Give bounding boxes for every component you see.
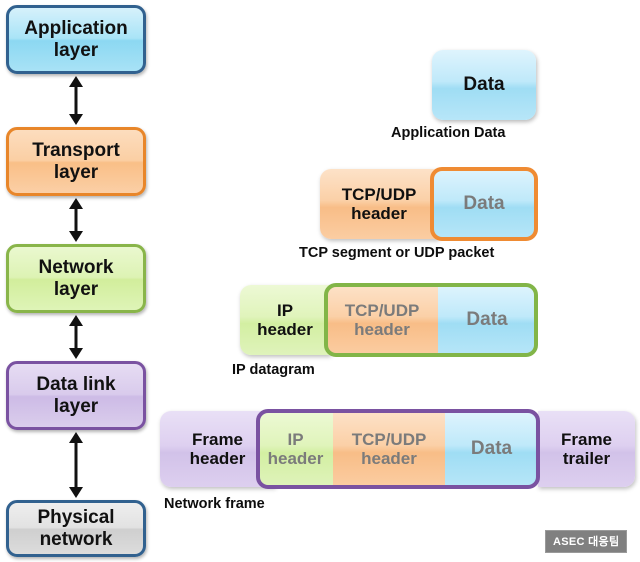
pdu-ip-datagram-tcp-udp-header-line2: header	[345, 320, 420, 339]
layer-label-transport-line1: Transport	[28, 140, 124, 161]
pdu-ip-datagram-segment-data-label: Data	[466, 309, 507, 331]
layer-box-application: Application layer	[6, 5, 146, 74]
arrow-transport-network	[64, 198, 88, 242]
pdu-ip-datagram-segment-tcp-udp-header: TCP/UDP header	[326, 285, 438, 355]
layer-label-network: Network layer	[31, 257, 122, 300]
pdu-network-frame-segment-data-label: Data	[471, 438, 512, 460]
pdu-caption-tcp-segment: TCP segment or UDP packet	[299, 245, 494, 261]
pdu-tcp-segment-tcp-udp-header-line1: TCP/UDP	[342, 185, 417, 204]
layer-box-physical: Physical network	[6, 500, 146, 557]
watermark-badge: ASEC 대응팀	[545, 530, 627, 553]
pdu-ip-datagram-segment-data: Data	[438, 285, 536, 355]
pdu-tcp-segment-segment-data: Data	[432, 169, 536, 239]
layer-label-physical-line2: network	[33, 529, 118, 550]
pdu-application-data-segment-data: Data	[432, 50, 536, 120]
layer-label-transport: Transport layer	[24, 140, 128, 183]
layer-label-transport-line2: layer	[28, 162, 124, 183]
layer-label-application-line2: layer	[20, 40, 131, 61]
pdu-network-frame-frame-header-line1: Frame	[190, 430, 246, 449]
pdu-ip-datagram-tcp-udp-header-line1: TCP/UDP	[345, 301, 420, 320]
layer-label-application: Application layer	[16, 18, 135, 61]
layer-label-application-line1: Application	[20, 18, 131, 39]
pdu-ip-datagram-ip-header-line1: IP	[257, 301, 313, 320]
pdu-network-frame-tcp-udp-header-line2: header	[352, 449, 427, 468]
pdu-tcp-segment-segment-data-label: Data	[463, 193, 504, 215]
pdu-tcp-segment-segment-tcp-udp-header-label: TCP/UDP header	[342, 185, 417, 224]
layer-box-network: Network layer	[6, 244, 146, 313]
arrow-app-transport	[64, 76, 88, 125]
pdu-ip-datagram-segment-tcp-udp-header-label: TCP/UDP header	[345, 301, 420, 340]
layer-box-transport: Transport layer	[6, 127, 146, 196]
pdu-network-frame-ip-header-line2: header	[268, 449, 324, 468]
pdu-network-frame-frame-trailer-line2: trailer	[561, 449, 612, 468]
pdu-ip-datagram-ip-header-line2: header	[257, 320, 313, 339]
pdu-network-frame-segment-frame-header-label: Frame header	[190, 430, 246, 469]
pdu-network-frame-segment-tcp-udp-header-label: TCP/UDP header	[352, 430, 427, 469]
pdu-network-frame-segment-ip-header-label: IP header	[268, 430, 324, 469]
layer-label-datalink: Data link layer	[28, 374, 123, 417]
layer-label-network-line1: Network	[35, 257, 118, 278]
pdu-network-frame-segment-tcp-udp-header: TCP/UDP header	[333, 411, 445, 487]
layer-label-datalink-line1: Data link	[32, 374, 119, 395]
arrow-network-datalink	[64, 315, 88, 359]
pdu-ip-datagram-segment-ip-header-label: IP header	[257, 301, 313, 340]
pdu-network-frame-frame-header-line2: header	[190, 449, 246, 468]
pdu-tcp-segment-tcp-udp-header-line2: header	[342, 204, 417, 223]
pdu-network-frame-segment-data: Data	[445, 411, 538, 487]
pdu-network-frame-ip-header-line1: IP	[268, 430, 324, 449]
pdu-caption-application-data: Application Data	[391, 125, 505, 141]
pdu-network-frame-segment-frame-trailer: Frame trailer	[538, 411, 635, 487]
pdu-network-frame-segment-frame-trailer-label: Frame trailer	[561, 430, 612, 469]
pdu-network-frame-frame-trailer-line1: Frame	[561, 430, 612, 449]
pdu-tcp-segment-segment-tcp-udp-header: TCP/UDP header	[320, 169, 438, 239]
pdu-network-frame-segment-ip-header: IP header	[258, 411, 333, 487]
pdu-caption-network-frame: Network frame	[164, 496, 265, 512]
layer-label-physical-line1: Physical	[33, 507, 118, 528]
pdu-caption-ip-datagram: IP datagram	[232, 362, 315, 378]
arrow-datalink-physical	[64, 432, 88, 498]
layer-label-physical: Physical network	[29, 507, 122, 550]
layer-label-datalink-line2: layer	[32, 396, 119, 417]
pdu-network-frame-tcp-udp-header-line1: TCP/UDP	[352, 430, 427, 449]
layer-box-datalink: Data link layer	[6, 361, 146, 430]
pdu-ip-datagram-segment-ip-header: IP header	[240, 285, 330, 355]
layer-label-network-line2: layer	[35, 279, 118, 300]
pdu-application-data-segment-data-label: Data	[463, 74, 504, 96]
